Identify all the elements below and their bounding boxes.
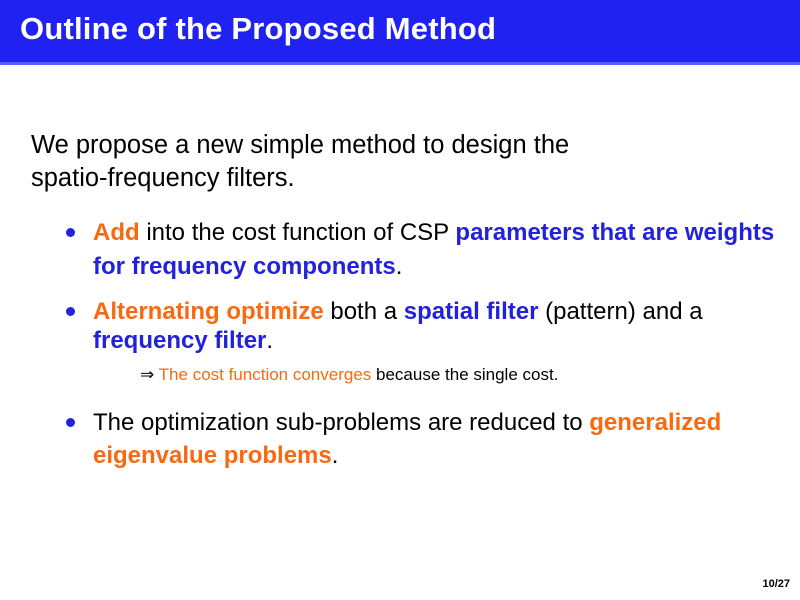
sub-note: ⇒ The cost function converges because th… [0, 364, 800, 386]
bullet-1-segment-0: Add [93, 219, 140, 246]
bullet-2-segment-1: both a [324, 298, 404, 325]
bullet-3-segment-0: The optimization sub-problems are reduce… [93, 409, 589, 436]
bullet-2-segment-5: . [266, 327, 273, 354]
bullet-2-segment-0: Alternating optimize [93, 298, 324, 325]
bullet-dot-icon [66, 418, 75, 427]
intro-line-2: spatio-frequency filters. [31, 164, 295, 192]
bullet-2-segment-4: frequency filter [93, 327, 266, 354]
sub-note-highlight: The cost function converges [159, 365, 372, 384]
list-item-text: Alternating optimize both a spatial filt… [93, 297, 800, 355]
implies-arrow-icon: ⇒ [140, 365, 154, 385]
list-item: Add into the cost function of CSP parame… [0, 216, 800, 284]
bullet-dot-icon [66, 307, 75, 316]
intro-line-1: We propose a new simple method to design… [31, 131, 569, 159]
page-title: Outline of the Proposed Method [20, 11, 496, 47]
bullet-1-segment-3: . [396, 253, 403, 280]
list-item-text: Add into the cost function of CSP parame… [93, 216, 800, 284]
bullet-1-segment-1: into the cost function of CSP [140, 219, 456, 246]
page-number: 10/27 [762, 578, 790, 590]
list-item: Alternating optimize both a spatial filt… [0, 297, 800, 355]
slide-body: We propose a new simple method to design… [0, 62, 800, 600]
bullet-2-segment-3: (pattern) and a [538, 298, 702, 325]
bullet-2-segment-2: spatial filter [404, 298, 539, 325]
bullet-dot-icon [66, 228, 75, 237]
list-item: The optimization sub-problems are reduce… [0, 406, 800, 472]
list-item-text: The optimization sub-problems are reduce… [93, 406, 800, 472]
intro-paragraph: We propose a new simple method to design… [31, 129, 731, 195]
sub-note-rest: because the single cost. [371, 365, 558, 384]
bullet-list: Add into the cost function of CSP parame… [0, 216, 800, 472]
bullet-3-segment-2: . [332, 442, 339, 469]
